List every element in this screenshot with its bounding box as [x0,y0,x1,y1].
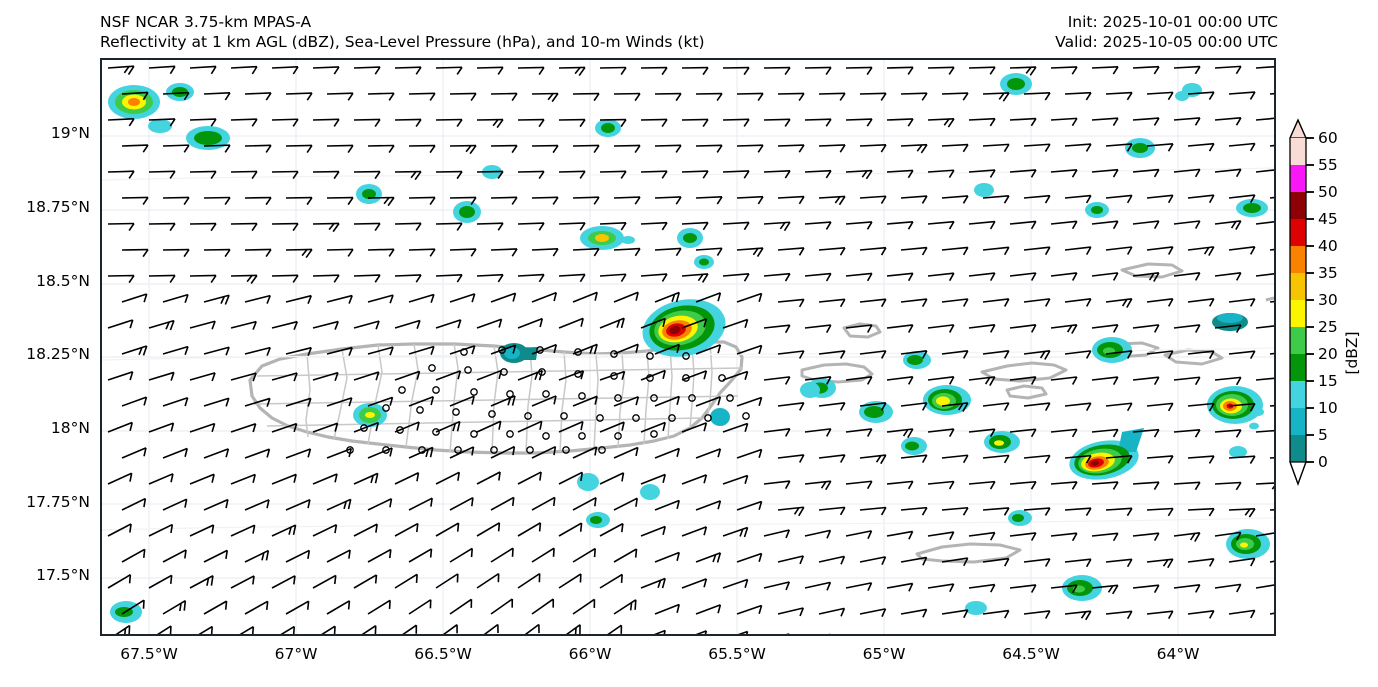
map-canvas [102,60,1274,634]
reflectivity-cell [595,119,621,137]
colorbar-tick-label: 55 [1318,156,1338,174]
ytick-label: 18.5°N [0,272,90,290]
colorbar-tick-label: 30 [1318,291,1338,309]
colorbar-tick-label: 0 [1318,453,1328,471]
ytick-label: 18.75°N [0,198,90,216]
colorbar[interactable]: 60 55 50 45 40 35 30 25 20 15 10 5 0 [1288,118,1378,588]
colorbar-tick-label: 20 [1318,345,1338,363]
xtick-label: 66°W [569,645,612,663]
xtick-label: 65.5°W [708,645,766,663]
valid-time-label: Valid: 2025-10-05 00:00 UTC [1055,32,1278,52]
colorbar-tick-label: 40 [1318,237,1338,255]
reflectivity-cell [694,255,714,269]
ytick-label: 18°N [0,419,90,437]
reflectivity-cell [580,226,624,250]
colorbar-tick-label: 5 [1318,426,1328,444]
forecast-map-figure: NSF NCAR 3.75-km MPAS-A Reflectivity at … [0,0,1378,687]
reflectivity-cell [166,83,194,101]
reflectivity-cell [1000,73,1032,95]
map-axes[interactable] [100,58,1276,636]
ytick-label: 19°N [0,124,90,142]
reflectivity-cell [901,437,927,455]
reflectivity-cell [500,343,538,363]
init-time-label: Init: 2025-10-01 00:00 UTC [1055,12,1278,32]
reflectivity-cell [1175,91,1189,101]
reflectivity-cell [1008,510,1032,526]
ytick-label: 17.75°N [0,493,90,511]
ytick-label: 18.25°N [0,345,90,363]
reflectivity-field [108,73,1270,623]
figure-title-right: Init: 2025-10-01 00:00 UTC Valid: 2025-1… [1055,12,1278,52]
colorbar-tick-label: 45 [1318,210,1338,228]
reflectivity-cell [108,85,160,119]
reflectivity-cell [453,201,481,223]
reflectivity-cell [800,382,820,398]
field-title: Reflectivity at 1 km AGL (dBZ), Sea-Leve… [100,32,705,52]
reflectivity-cell [640,484,660,500]
reflectivity-cell [356,184,382,204]
ytick-label: 17.5°N [0,566,90,584]
xtick-label: 67.5°W [120,645,178,663]
reflectivity-cell [621,236,635,244]
reflectivity-cell-strong-east-edge [1207,386,1264,429]
colorbar-tick-label: 50 [1318,183,1338,201]
xtick-label: 64.5°W [1002,645,1060,663]
reflectivity-cell [974,183,994,197]
reflectivity-cell [1085,202,1109,218]
reflectivity-cell [148,119,172,133]
xtick-label: 67°W [275,645,318,663]
reflectivity-cell [1092,337,1132,363]
colorbar-axis-label: [dBZ] [1343,331,1361,374]
reflectivity-cell [586,512,610,528]
xtick-label: 64°W [1157,645,1200,663]
reflectivity-cell [710,408,730,426]
colorbar-tick-label: 60 [1318,129,1338,147]
reflectivity-cell [984,431,1020,453]
reflectivity-cell [353,403,387,427]
reflectivity-cell [577,473,599,491]
model-title: NSF NCAR 3.75-km MPAS-A [100,12,705,32]
colorbar-tick-label: 35 [1318,264,1338,282]
reflectivity-cell [965,601,987,615]
xtick-label: 65°W [863,645,906,663]
colorbar-tick-label: 10 [1318,399,1338,417]
figure-title-left: NSF NCAR 3.75-km MPAS-A Reflectivity at … [100,12,705,52]
colorbar-tick-label: 15 [1318,372,1338,390]
colorbar-tick-label: 25 [1318,318,1338,336]
xtick-label: 66.5°W [414,645,472,663]
reflectivity-cell [677,228,703,248]
colorbar-swatches [1288,118,1318,588]
